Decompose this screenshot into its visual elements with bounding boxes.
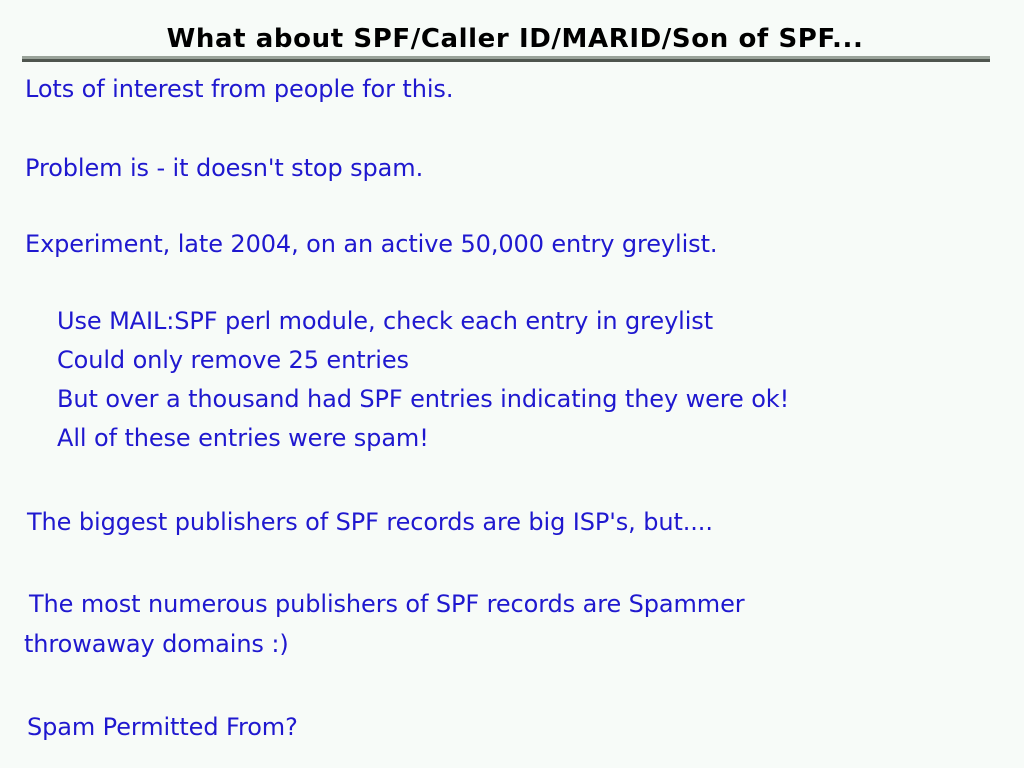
body-line-spam-permitted-from: Spam Permitted From? (27, 713, 298, 741)
presentation-slide: What about SPF/Caller ID/MARID/Son of SP… (0, 0, 1024, 768)
body-line-most-numerous-publishers: The most numerous publishers of SPF reco… (29, 590, 745, 618)
body-line-throwaway-domains: throwaway domains :) (24, 630, 289, 658)
body-line-problem: Problem is - it doesn't stop spam. (25, 154, 423, 182)
body-subline-thousand-entries: But over a thousand had SPF entries indi… (57, 385, 789, 413)
body-subline-perl-module: Use MAIL:SPF perl module, check each ent… (57, 307, 713, 335)
body-line-experiment: Experiment, late 2004, on an active 50,0… (25, 230, 717, 258)
title-divider (22, 56, 990, 62)
body-line-interest: Lots of interest from people for this. (25, 75, 453, 103)
body-line-biggest-publishers: The biggest publishers of SPF records ar… (27, 508, 713, 536)
slide-title-area: What about SPF/Caller ID/MARID/Son of SP… (0, 24, 1024, 58)
divider-shadow-band (22, 59, 990, 62)
page-title: What about SPF/Caller ID/MARID/Son of SP… (0, 24, 1024, 54)
body-subline-removed-entries: Could only remove 25 entries (57, 346, 409, 374)
slide-body: Lots of interest from people for this. P… (0, 68, 1024, 768)
body-subline-all-spam: All of these entries were spam! (57, 424, 429, 452)
